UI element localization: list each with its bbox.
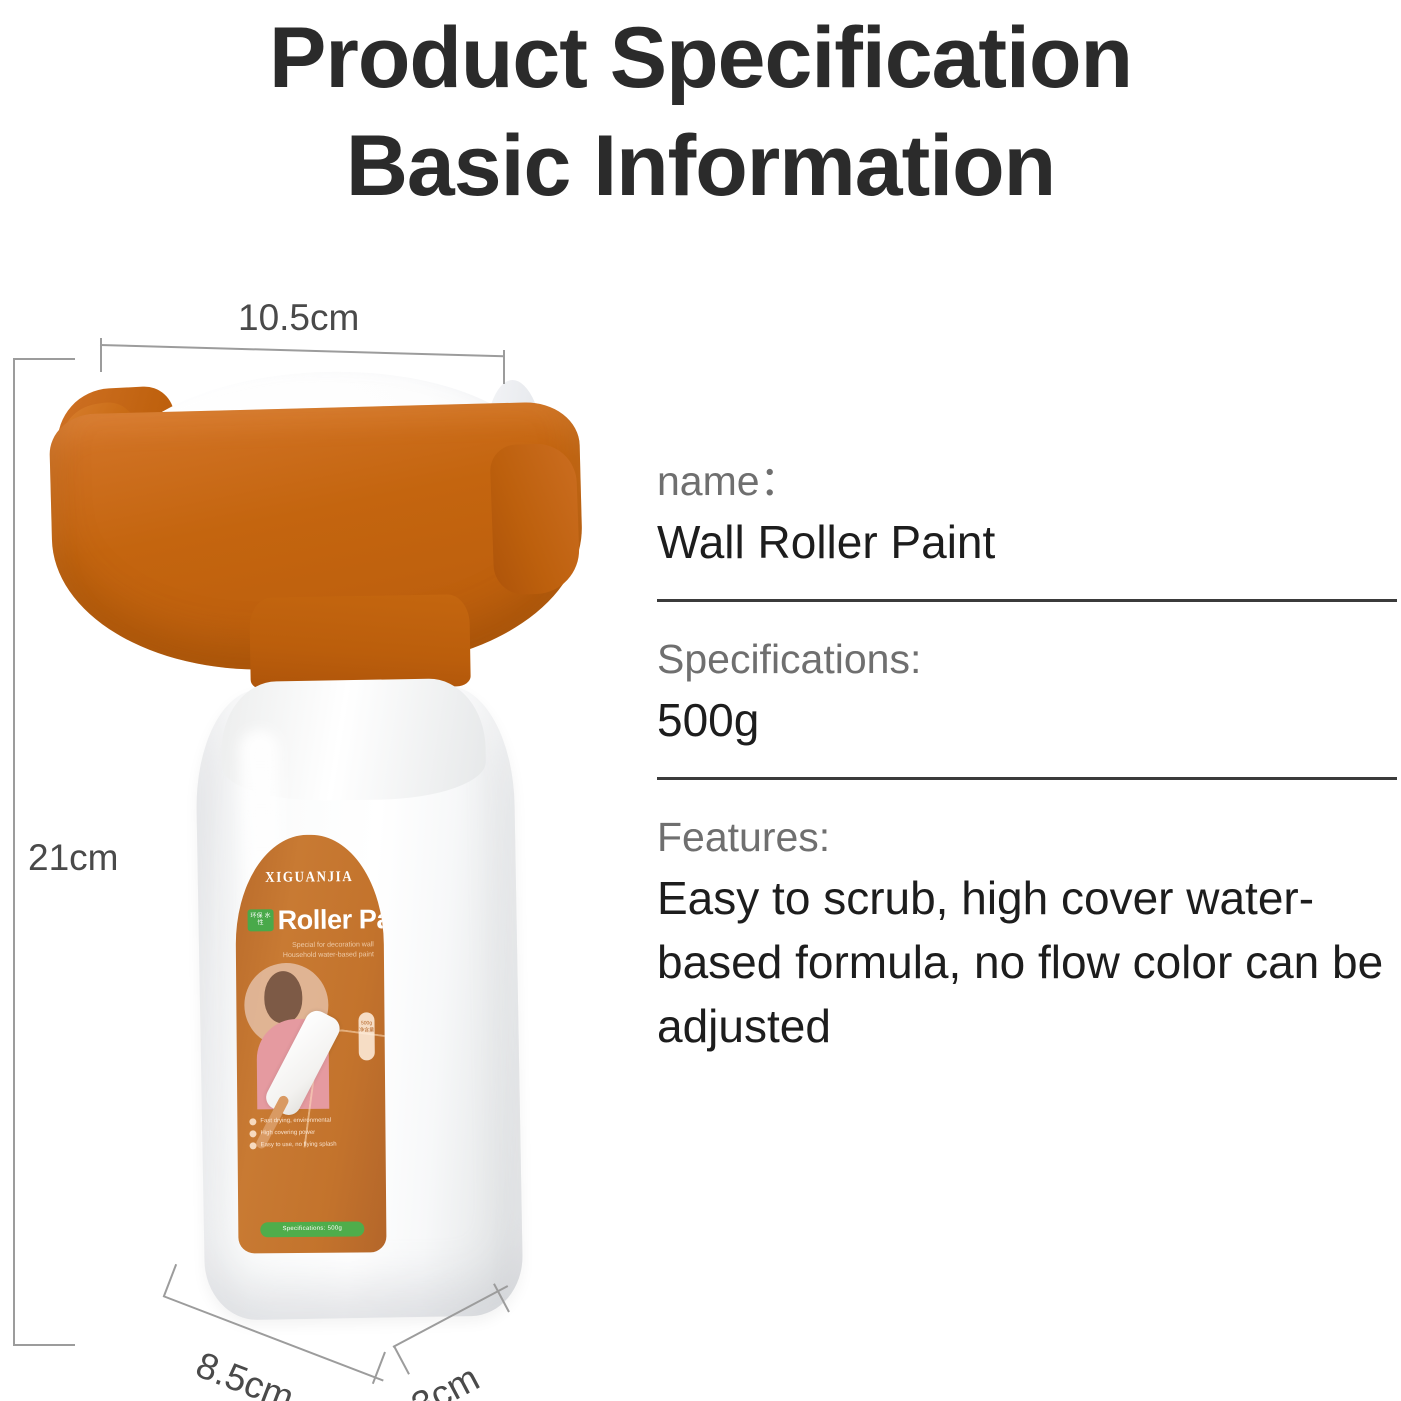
spec-value-specifications: 500g xyxy=(657,688,1399,752)
label-subtitle: Special for decoration wall Household wa… xyxy=(282,940,374,961)
spec-row-name: name： Wall Roller Paint xyxy=(657,452,1399,602)
label-bullet-list: Fast drying, environmental High covering… xyxy=(249,1116,367,1153)
label-net-weight-tag: 500g 净含量 xyxy=(358,1012,374,1060)
spec-divider xyxy=(657,599,1397,602)
label-eco-badge: 环保 水性 xyxy=(248,909,274,931)
label-bullet-item: Fast drying, environmental xyxy=(249,1116,367,1125)
spacer xyxy=(657,752,1399,777)
spec-row-specifications: Specifications: 500g xyxy=(657,630,1399,780)
dimension-bracket-height-tick-top xyxy=(13,358,75,360)
label-bullet-text: High covering power xyxy=(260,1129,315,1137)
label-person-head-icon xyxy=(264,971,302,1023)
label-brand-text: XIGUANJIA xyxy=(235,867,383,887)
label-bullet-item: High covering power xyxy=(249,1128,367,1137)
dimension-bracket-width-top-bar xyxy=(100,344,504,357)
spec-value-features: Easy to scrub, high cover water-based fo… xyxy=(657,866,1399,1058)
label-footer-pill: Specifications: 500g xyxy=(260,1221,364,1237)
dimension-bracket-width-top-tick-right xyxy=(503,350,505,384)
label-product-title: Roller Paint xyxy=(277,904,386,935)
dimension-bracket-width-bottom-tick-left xyxy=(163,1264,177,1296)
roller-neck-joint xyxy=(249,594,471,690)
dimension-bracket-width-top-tick-left xyxy=(100,338,102,372)
spec-row-features: Features: Easy to scrub, high cover wate… xyxy=(657,808,1399,1058)
bullet-dot-icon xyxy=(249,1118,256,1125)
label-eco-badge-text: 环保 水性 xyxy=(248,909,274,927)
roller-frame-slot xyxy=(124,448,531,579)
dimension-bracket-height-bar xyxy=(13,358,15,1346)
label-bullet-text: Easy to use, no flying splash xyxy=(261,1141,337,1150)
spacer xyxy=(657,602,1399,630)
label-net-weight-text: 500g 净含量 xyxy=(358,1012,374,1034)
spec-value-name: Wall Roller Paint xyxy=(657,510,1399,574)
label-footer-text: Specifications: 500g xyxy=(260,1221,364,1237)
spacer xyxy=(657,780,1399,808)
spacer xyxy=(657,574,1399,599)
spec-label-name: name： xyxy=(657,452,1399,510)
product-illustration: XIGUANJIA 环保 水性 Roller Paint Special for… xyxy=(0,0,640,1401)
dimension-label-height: 21cm xyxy=(28,838,118,878)
specification-list: name： Wall Roller Paint Specifications: … xyxy=(657,452,1399,1058)
bottle-label: XIGUANJIA 环保 水性 Roller Paint Special for… xyxy=(235,834,387,1253)
dimension-label-depth: 3cm xyxy=(405,1358,486,1401)
product-specification-page: Product Specification Basic Information … xyxy=(0,0,1401,1401)
label-bullet-text: Fast drying, environmental xyxy=(260,1117,331,1126)
dimension-bracket-height-tick-bottom xyxy=(13,1344,75,1346)
dimension-bracket-depth-tick-left xyxy=(393,1346,410,1375)
spec-label-specifications: Specifications: xyxy=(657,630,1399,688)
spec-label-features: Features: xyxy=(657,808,1399,866)
roller-head xyxy=(52,368,592,698)
paint-bottle: XIGUANJIA 环保 水性 Roller Paint Special for… xyxy=(195,685,524,1320)
dimension-label-width-bottom: 8.5cm xyxy=(191,1345,299,1401)
bullet-dot-icon xyxy=(249,1130,256,1137)
label-bullet-item: Easy to use, no flying splash xyxy=(250,1140,368,1149)
dimension-label-width-top: 10.5cm xyxy=(238,298,359,338)
roller-frame-right-arm xyxy=(489,443,580,596)
bullet-dot-icon xyxy=(250,1142,257,1149)
spec-divider xyxy=(657,777,1397,780)
